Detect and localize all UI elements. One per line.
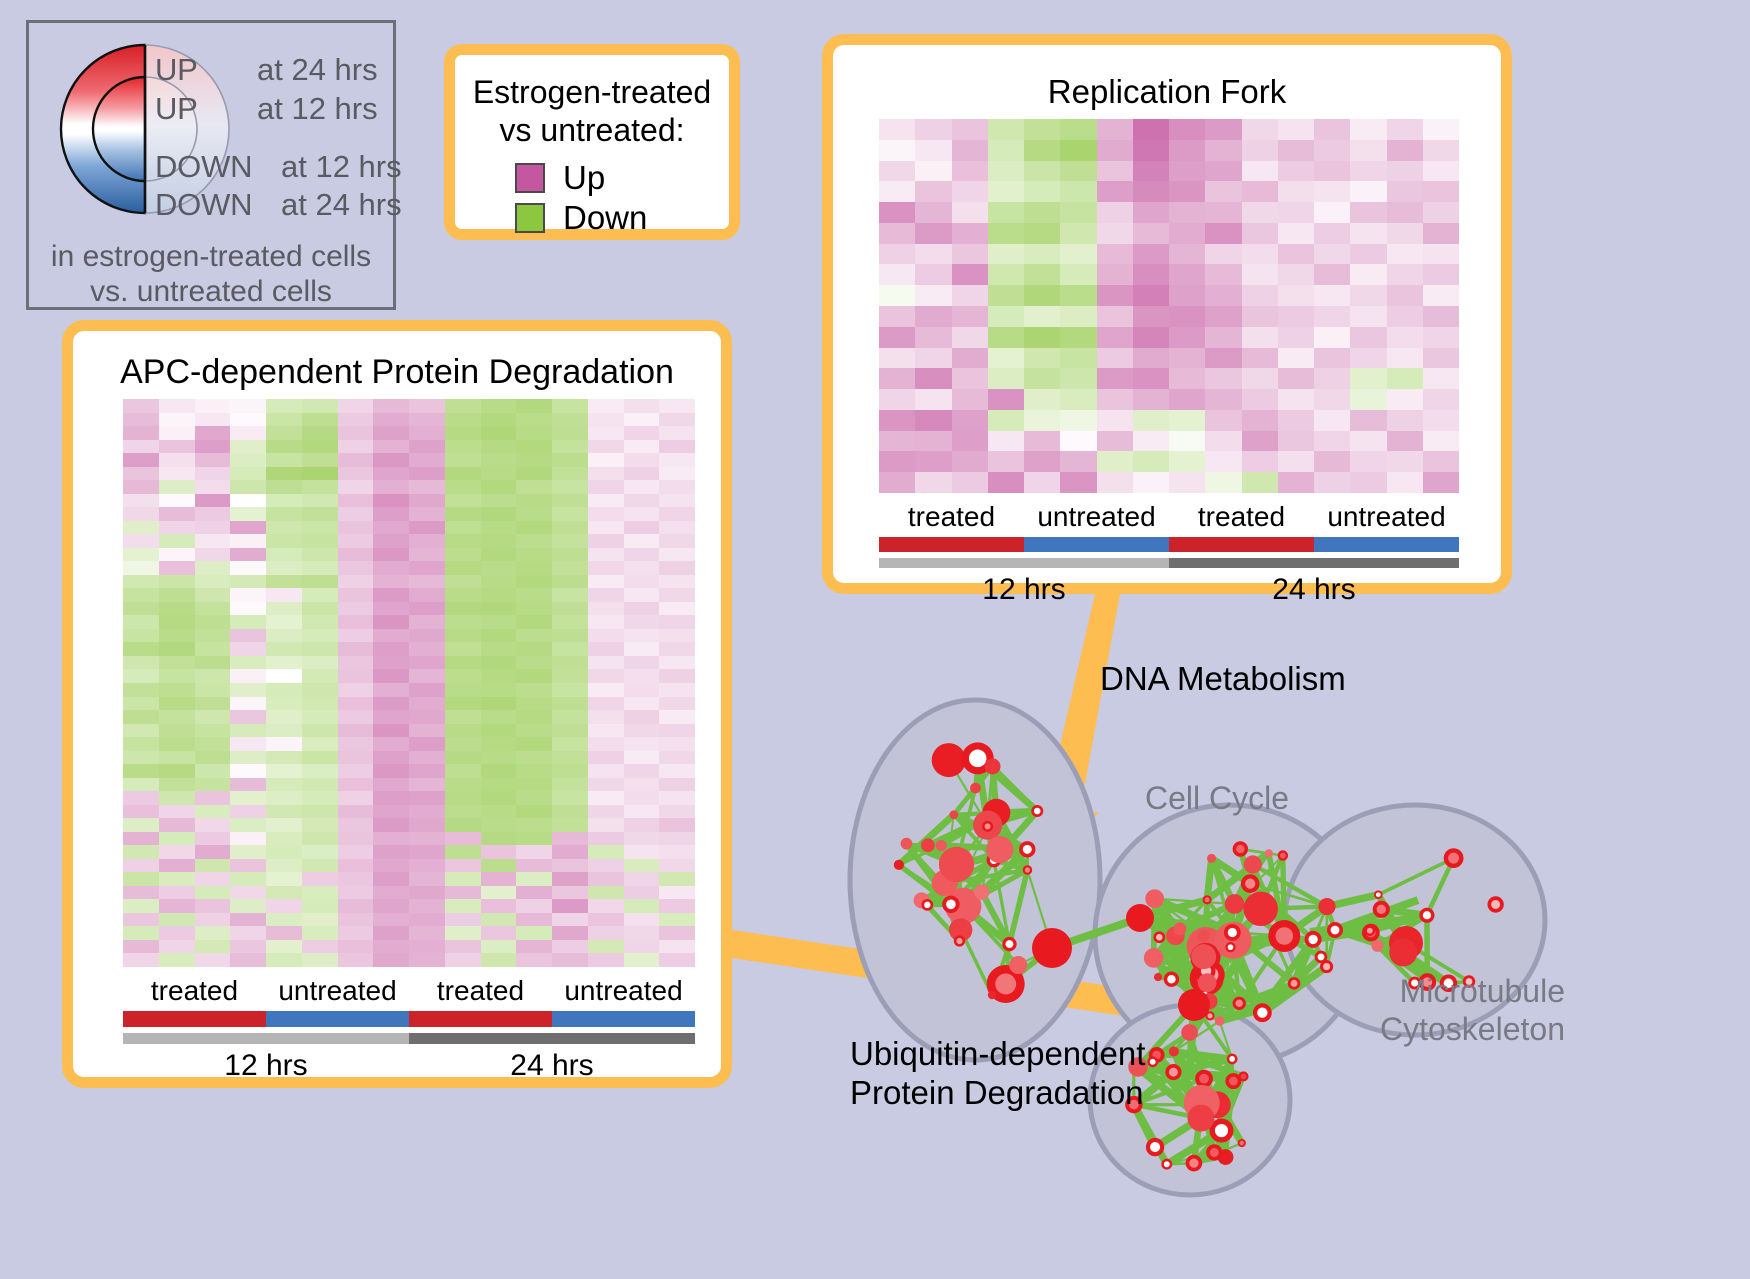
heatmap-cell (915, 472, 951, 493)
heatmap-cell (1060, 451, 1096, 472)
heatmap-cell (1242, 202, 1278, 223)
heatmap-cell (481, 440, 517, 454)
heatmap-cell (373, 886, 409, 900)
heatmap-cell (624, 521, 660, 535)
heatmap-cell (516, 656, 552, 670)
heatmap-cell (588, 602, 624, 616)
heatmap-cell (915, 181, 951, 202)
heatmap-cell (159, 710, 195, 724)
heatmap-cell (338, 778, 374, 792)
heatmap-cell (123, 561, 159, 575)
heatmap-cell (952, 472, 988, 493)
heatmap-cell (552, 656, 588, 670)
heatmap-cell (988, 451, 1024, 472)
heatmap-cell (1205, 161, 1241, 182)
heatmap-cell (552, 697, 588, 711)
heatmap-cell (516, 588, 552, 602)
heatmap-cell (1097, 472, 1133, 493)
heatmap-cell (123, 697, 159, 711)
heatmap-cell (230, 764, 266, 778)
heatmap-cell (302, 913, 338, 927)
heatmap-cell (915, 285, 951, 306)
heatmap-cell (409, 940, 445, 954)
heatmap-cell (588, 615, 624, 629)
network-node (1032, 928, 1072, 968)
heatmap-cell (1350, 181, 1386, 202)
heatmap-cell (445, 859, 481, 873)
network-node (946, 900, 956, 910)
heatmap-cell (552, 805, 588, 819)
heatmap-cell (1169, 348, 1205, 369)
heatmap-cell (302, 561, 338, 575)
heatmap-cell (338, 751, 374, 765)
network-node (1318, 898, 1335, 915)
heatmap-cell (1278, 389, 1314, 410)
heatmap-cell (1060, 244, 1096, 265)
heatmap-cell (552, 845, 588, 859)
heatmap-cell (1133, 119, 1169, 140)
network-node (1173, 922, 1186, 935)
network-node (1491, 900, 1500, 909)
heatmap-cell (552, 561, 588, 575)
heatmap-cell (588, 575, 624, 589)
heatmap-cell (988, 244, 1024, 265)
heatmap-cell (624, 534, 660, 548)
heatmap-cell (409, 521, 445, 535)
heatmap-cell (1133, 368, 1169, 389)
heatmap-cell (1097, 181, 1133, 202)
heatmap-cell (1387, 140, 1423, 161)
heatmap-cell (230, 521, 266, 535)
heatmap-cell (1350, 472, 1386, 493)
network-node (1181, 1024, 1198, 1041)
heatmap-cell (624, 953, 660, 967)
heatmap-cell (445, 683, 481, 697)
group-label-treated-24: treated (1169, 501, 1314, 533)
heatmap-cell (195, 669, 231, 683)
heatmap-cell (266, 926, 302, 940)
heatmap-cell (409, 615, 445, 629)
heatmap-cell (1060, 161, 1096, 182)
heatmap-cell (588, 426, 624, 440)
heatmap-cell (1278, 410, 1314, 431)
heatmap-cell (659, 737, 695, 751)
heatmap-cell (302, 805, 338, 819)
heatmap-cell (624, 588, 660, 602)
network-node (1244, 892, 1278, 926)
heatmap-cell (302, 575, 338, 589)
heatmap-cell (409, 764, 445, 778)
heatmap-cell (952, 264, 988, 285)
heatmap-cell (195, 913, 231, 927)
heatmap-cell (588, 561, 624, 575)
heatmap-cell (1350, 368, 1386, 389)
heatmap-cell (302, 642, 338, 656)
heatmap-cell (659, 413, 695, 427)
heatmap-cell (659, 899, 695, 913)
heatmap-cell (373, 642, 409, 656)
heatmap-cell (915, 140, 951, 161)
heatmap-cell (552, 724, 588, 738)
heatmap-cell (588, 940, 624, 954)
wheel-row-hrs-down-24: at 24 hrs (281, 187, 402, 223)
heatmap-cell (1350, 285, 1386, 306)
heatmap-cell (338, 697, 374, 711)
heatmap-cell (624, 899, 660, 913)
heatmap-cell (659, 791, 695, 805)
heatmap-cell (373, 629, 409, 643)
heatmap-cell (1278, 431, 1314, 452)
network-node (1276, 927, 1294, 945)
heatmap-cell (1097, 348, 1133, 369)
heatmap-cell (195, 399, 231, 413)
heatmap-cell (588, 588, 624, 602)
heatmap-cell (516, 575, 552, 589)
network-node (1150, 1059, 1156, 1065)
heatmap-cell (1423, 285, 1459, 306)
heatmap-cell (266, 805, 302, 819)
heatmap-cell (516, 413, 552, 427)
heatmap-cell (302, 494, 338, 508)
heatmap-cell (266, 953, 302, 967)
bar-untreated-24 (1314, 537, 1459, 552)
heatmap-cell (588, 859, 624, 873)
heatmap-cell (1387, 244, 1423, 265)
heatmap-cell (552, 737, 588, 751)
heatmap-cell (195, 507, 231, 521)
heatmap-cell (1350, 431, 1386, 452)
heatmap-cell (952, 451, 988, 472)
heatmap-cell (879, 348, 915, 369)
heatmap-cell (373, 913, 409, 927)
cluster-label-dna-metabolism: DNA Metabolism (1100, 660, 1346, 698)
heatmap-cell (409, 548, 445, 562)
heatmap-cell (123, 615, 159, 629)
heatmap-cell (409, 913, 445, 927)
heatmap-cell (338, 724, 374, 738)
heatmap-cell (1205, 472, 1241, 493)
heatmap-cell (988, 410, 1024, 431)
heatmap-cell (409, 899, 445, 913)
heatmap-cell (481, 683, 517, 697)
heatmap-cell (1278, 368, 1314, 389)
heatmap-cell (266, 764, 302, 778)
network-node (1318, 953, 1325, 960)
heatmap-cell (230, 940, 266, 954)
heatmap-cell (195, 872, 231, 886)
heatmap-cell (588, 845, 624, 859)
heatmap-cell (588, 737, 624, 751)
heatmap-cell (879, 119, 915, 140)
heatmap-cell (195, 724, 231, 738)
network-node (1006, 940, 1014, 948)
heatmap-cell (195, 467, 231, 481)
heatmap-cell (159, 480, 195, 494)
heatmap-cell (338, 602, 374, 616)
heatmap-cell (659, 642, 695, 656)
heatmap-cell (302, 629, 338, 643)
heatmap-cell (588, 872, 624, 886)
up-color-swatch (515, 163, 545, 193)
network-node (1198, 929, 1210, 941)
heatmap-cell (1314, 264, 1350, 285)
heatmap-cell (373, 521, 409, 535)
heatmap-cell (123, 899, 159, 913)
heatmap-cell (1097, 244, 1133, 265)
heatmap-cell (266, 561, 302, 575)
time-label-24: 24 hrs (409, 1049, 695, 1083)
heatmap-cell (1314, 389, 1350, 410)
heatmap-cell (195, 629, 231, 643)
heatmap-cell (659, 832, 695, 846)
heatmap-cell (659, 656, 695, 670)
heatmap-cell (1169, 285, 1205, 306)
heatmap-cell (195, 575, 231, 589)
heatmap-cell (373, 615, 409, 629)
heatmap-cell (952, 119, 988, 140)
heatmap-cell (338, 764, 374, 778)
key-legend-title: Estrogen-treated vs untreated: (455, 73, 729, 150)
heatmap-cell (230, 588, 266, 602)
heatmap-cell (588, 494, 624, 508)
heatmap-cell (1060, 202, 1096, 223)
heatmap-cell (1169, 161, 1205, 182)
heatmap-cell (659, 845, 695, 859)
heatmap-cell (445, 710, 481, 724)
heatmap-cell (123, 548, 159, 562)
heatmap-cell (1350, 264, 1386, 285)
heatmap-cell (1350, 140, 1386, 161)
heatmap-cell (195, 615, 231, 629)
heatmap-cell (195, 764, 231, 778)
heatmap-cell (1387, 389, 1423, 410)
heatmap-cell (1423, 368, 1459, 389)
heatmap-cell (588, 521, 624, 535)
heatmap-cell (230, 534, 266, 548)
heatmap-cell (1242, 223, 1278, 244)
heatmap-cell (1169, 306, 1205, 327)
heatmap-cell (1242, 472, 1278, 493)
heatmap-cell (445, 507, 481, 521)
network-node (974, 884, 989, 899)
heatmap-cell (409, 669, 445, 683)
heatmap-cell (481, 845, 517, 859)
heatmap-cell (879, 244, 915, 265)
network-node (894, 860, 904, 870)
bar-time-24 (409, 1033, 695, 1044)
heatmap-cell (409, 399, 445, 413)
heatmap-cell (302, 534, 338, 548)
network-node (1228, 928, 1237, 937)
heatmap-cell (1024, 161, 1060, 182)
heatmap-cell (195, 818, 231, 832)
heatmap-cell (445, 521, 481, 535)
heatmap-cell (409, 453, 445, 467)
heatmap-cell (1205, 368, 1241, 389)
heatmap-cell (516, 602, 552, 616)
wheel-row-hrs-down-12: at 12 hrs (281, 149, 402, 185)
heatmap-cell (588, 642, 624, 656)
heatmap-cell (552, 548, 588, 562)
heatmap-cell (659, 805, 695, 819)
heatmap-cell (1423, 223, 1459, 244)
heatmap-cell (552, 832, 588, 846)
group-label-treated-24: treated (409, 975, 552, 1007)
network-node (1257, 1008, 1267, 1018)
heatmap-cell (409, 818, 445, 832)
heatmap-cell (230, 656, 266, 670)
bar-treated-24 (1169, 537, 1314, 552)
heatmap-cell (445, 426, 481, 440)
heatmap-cell (1169, 431, 1205, 452)
heatmap-cell (1205, 431, 1241, 452)
heatmap-cell (338, 453, 374, 467)
heatmap-cell (1024, 306, 1060, 327)
heatmap-cell (516, 859, 552, 873)
heatmap-cell (1314, 119, 1350, 140)
heatmap-cell (302, 413, 338, 427)
heatmap-cell (624, 426, 660, 440)
heatmap-cell (952, 348, 988, 369)
network-node (932, 743, 966, 777)
heatmap-cell (302, 615, 338, 629)
heatmap-cell (879, 431, 915, 452)
heatmap-cell (1024, 119, 1060, 140)
wheel-row-label-up-24: UP (155, 52, 198, 88)
heatmap-cell (1097, 202, 1133, 223)
cluster-label-microtubule-line1: Microtubule (1380, 972, 1565, 1010)
heatmap-cell (516, 697, 552, 711)
heatmap-cell (195, 940, 231, 954)
heatmap-cell (266, 737, 302, 751)
heatmap-cell (1278, 306, 1314, 327)
heatmap-cell (123, 453, 159, 467)
heatmap-cell (1097, 410, 1133, 431)
heatmap-cell (588, 724, 624, 738)
heatmap-cell (552, 683, 588, 697)
heatmap-cell (338, 710, 374, 724)
heatmap-cell (1350, 161, 1386, 182)
heatmap-cell (373, 413, 409, 427)
heatmap-cell (266, 710, 302, 724)
heatmap-cell (659, 426, 695, 440)
heatmap-cell (338, 534, 374, 548)
heatmap-cell (338, 953, 374, 967)
heatmap-cell (373, 534, 409, 548)
network-node (1389, 938, 1417, 966)
heatmap-cell (445, 791, 481, 805)
heatmap-cell (409, 588, 445, 602)
heatmap-cell (1097, 140, 1133, 161)
heatmap-cell (338, 413, 374, 427)
heatmap-cell (266, 413, 302, 427)
heatmap-cell (1060, 140, 1096, 161)
heatmap-cell (338, 399, 374, 413)
heatmap-cell (159, 426, 195, 440)
heatmap-cell (481, 737, 517, 751)
heatmap-cell (409, 832, 445, 846)
heatmap-cell (266, 899, 302, 913)
heatmap-cell (338, 615, 374, 629)
heatmap-cell (195, 953, 231, 967)
color-wheel-legend: UP at 24 hrs UP at 12 hrs DOWN at 12 hrs… (26, 20, 396, 310)
heatmap-cell (879, 202, 915, 223)
heatmap-cell (195, 751, 231, 765)
heatmap-cell (195, 642, 231, 656)
heatmap-cell (588, 534, 624, 548)
network-node (1376, 892, 1381, 897)
heatmap-cell (552, 940, 588, 954)
heatmap-cell (195, 899, 231, 913)
network-node (1178, 989, 1210, 1021)
heatmap-cell (445, 453, 481, 467)
heatmap-cell (302, 926, 338, 940)
heatmap-cell (879, 140, 915, 161)
network-node (970, 783, 981, 794)
heatmap-cell (302, 521, 338, 535)
heatmap-cell (481, 656, 517, 670)
network-node (1308, 935, 1317, 944)
heatmap-cell (1205, 140, 1241, 161)
heatmap-cell (373, 453, 409, 467)
heatmap-cell (552, 926, 588, 940)
heatmap-cell (624, 845, 660, 859)
heatmap-cell (1314, 285, 1350, 306)
heatmap-cell (516, 453, 552, 467)
heatmap-cell (445, 697, 481, 711)
heatmap-cell (302, 724, 338, 738)
heatmap-cell (1423, 348, 1459, 369)
heatmap-cell (338, 805, 374, 819)
heatmap-cell (445, 805, 481, 819)
heatmap-cell (123, 845, 159, 859)
heatmap-cell (879, 389, 915, 410)
heatmap-cell (1278, 285, 1314, 306)
heatmap-cell (552, 453, 588, 467)
heatmap-cell (409, 778, 445, 792)
heatmap-cell (1097, 368, 1133, 389)
heatmap-cell (1060, 223, 1096, 244)
heatmap-cell (915, 410, 951, 431)
heatmap-cell (1060, 368, 1096, 389)
heatmap-cell (588, 791, 624, 805)
heatmap-cell (445, 602, 481, 616)
time-color-bar-apc (123, 1033, 695, 1044)
heatmap-cell (988, 306, 1024, 327)
heatmap-cell (481, 521, 517, 535)
heatmap-cell (659, 872, 695, 886)
key-legend-item-up-label: Up (563, 159, 605, 197)
heatmap-cell (195, 845, 231, 859)
heatmap-cell (1169, 119, 1205, 140)
heatmap-cell (624, 913, 660, 927)
heatmap-cell (338, 521, 374, 535)
heatmap-cell (373, 872, 409, 886)
heatmap-cell (1205, 223, 1241, 244)
network-node (1025, 867, 1030, 872)
heatmap-cell (516, 521, 552, 535)
heatmap-cell (624, 669, 660, 683)
heatmap-cell (373, 480, 409, 494)
heatmap-cell (123, 588, 159, 602)
heatmap-cell (1097, 161, 1133, 182)
wheel-row-label-down-24: DOWN (155, 187, 252, 223)
heatmap-cell (915, 431, 951, 452)
heatmap-cell (1242, 285, 1278, 306)
pathway-network-diagram: DNA Metabolism Cell Cycle Microtubule Cy… (790, 600, 1750, 1279)
heatmap-cell (159, 561, 195, 575)
heatmap-cell (552, 751, 588, 765)
